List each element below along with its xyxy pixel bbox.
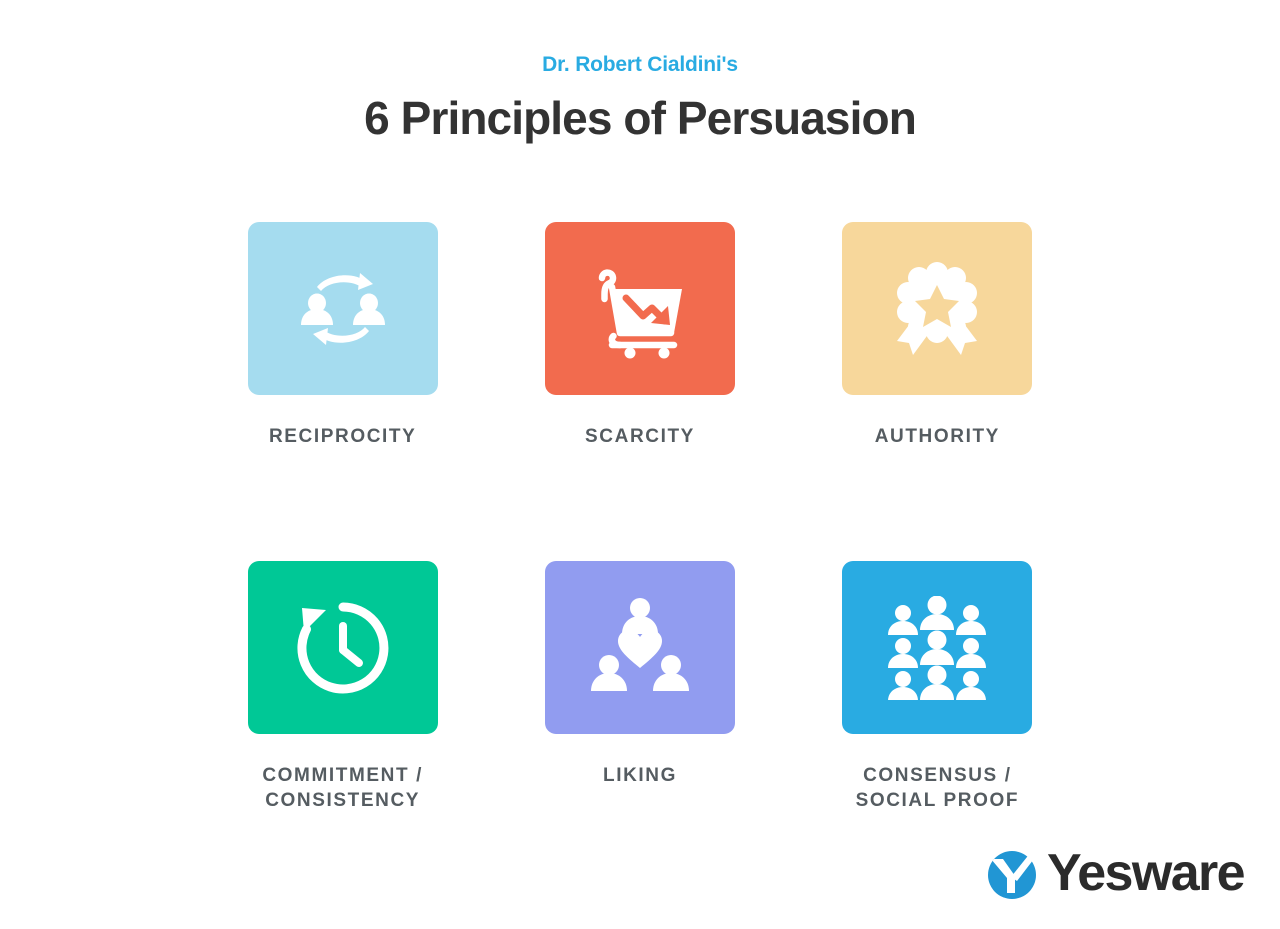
principle-card-liking: LIKING [491,561,788,813]
infographic-canvas: Dr. Robert Cialdini's 6 Principles of Pe… [0,0,1280,929]
principles-grid: RECIPROCITY [194,222,1086,813]
principle-tile-authority [842,222,1032,395]
principle-label-liking: LIKING [603,763,677,788]
principle-label-scarcity: SCARCITY [585,424,695,449]
three-people-heart-icon [588,596,692,700]
yesware-y-circle-icon [985,845,1041,901]
award-ribbon-star-icon [885,257,989,361]
principle-tile-commitment [248,561,438,734]
crowd-of-people-grid-icon [885,596,989,700]
principle-card-authority: AUTHORITY [789,222,1086,449]
two-people-exchange-arrows-icon [291,257,395,361]
principle-card-scarcity: SCARCITY [491,222,788,449]
shopping-cart-declining-arrow-icon [588,257,692,361]
principle-tile-liking [545,561,735,734]
principle-card-commitment: COMMITMENT / CONSISTENCY [194,561,491,813]
principle-label-authority: AUTHORITY [875,424,1000,449]
clock-rewind-history-icon [293,598,393,698]
header: Dr. Robert Cialdini's 6 Principles of Pe… [0,52,1280,146]
principle-label-reciprocity: RECIPROCITY [269,424,416,449]
page-title: 6 Principles of Persuasion [0,90,1280,146]
principle-tile-scarcity [545,222,735,395]
eyebrow-text: Dr. Robert Cialdini's [0,52,1280,78]
principle-card-consensus: CONSENSUS / SOCIAL PROOF [789,561,1086,813]
principle-card-reciprocity: RECIPROCITY [194,222,491,449]
yesware-logo: Yesware [985,845,1244,901]
principle-label-commitment: COMMITMENT / CONSISTENCY [262,763,423,813]
principle-tile-reciprocity [248,222,438,395]
yesware-wordmark: Yesware [1047,845,1244,901]
principle-tile-consensus [842,561,1032,734]
principle-label-consensus: CONSENSUS / SOCIAL PROOF [856,763,1019,813]
